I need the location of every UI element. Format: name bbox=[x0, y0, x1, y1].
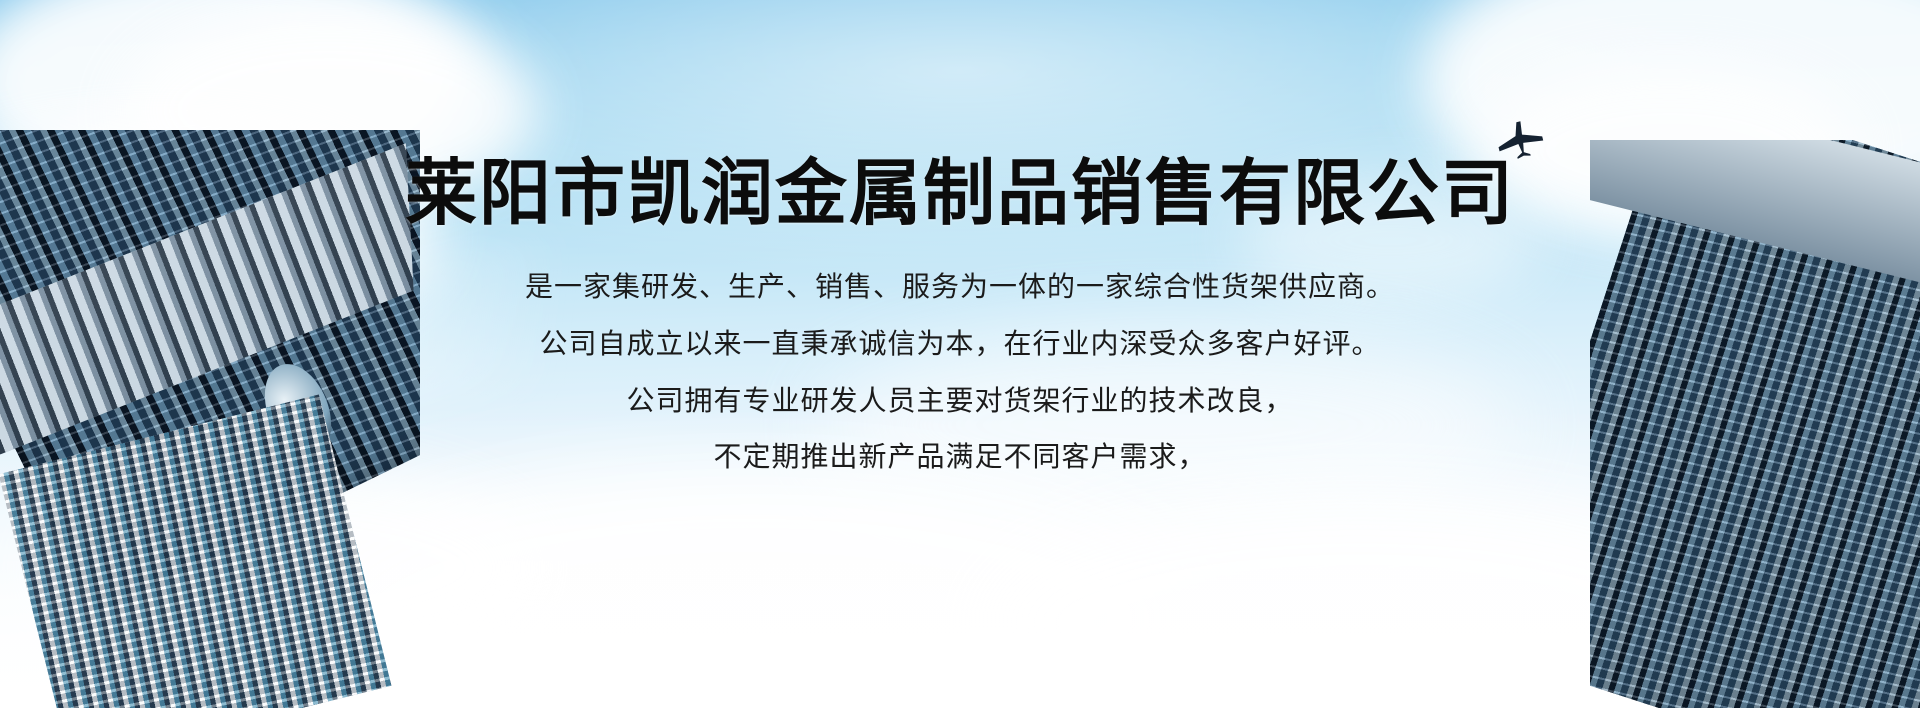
description-line: 公司自成立以来一直秉承诚信为本，在行业内深受众多客户好评。 bbox=[539, 329, 1380, 360]
description-line: 不定期推出新产品满足不同客户需求， bbox=[713, 442, 1206, 473]
hero-banner: 莱阳市凯润金属制品销售有限公司 是一家集研发、生产、销售、服务为一体的一家综合性… bbox=[0, 0, 1920, 708]
description-line: 公司拥有专业研发人员主要对货架行业的技术改良， bbox=[626, 386, 1293, 417]
banner-content: 莱阳市凯润金属制品销售有限公司 是一家集研发、生产、销售、服务为一体的一家综合性… bbox=[0, 0, 1920, 708]
description-line: 是一家集研发、生产、销售、服务为一体的一家综合性货架供应商。 bbox=[525, 272, 1395, 303]
company-description: 是一家集研发、生产、销售、服务为一体的一家综合性货架供应商。 公司自成立以来一直… bbox=[525, 272, 1395, 473]
page-title: 莱阳市凯润金属制品销售有限公司 bbox=[405, 158, 1515, 230]
